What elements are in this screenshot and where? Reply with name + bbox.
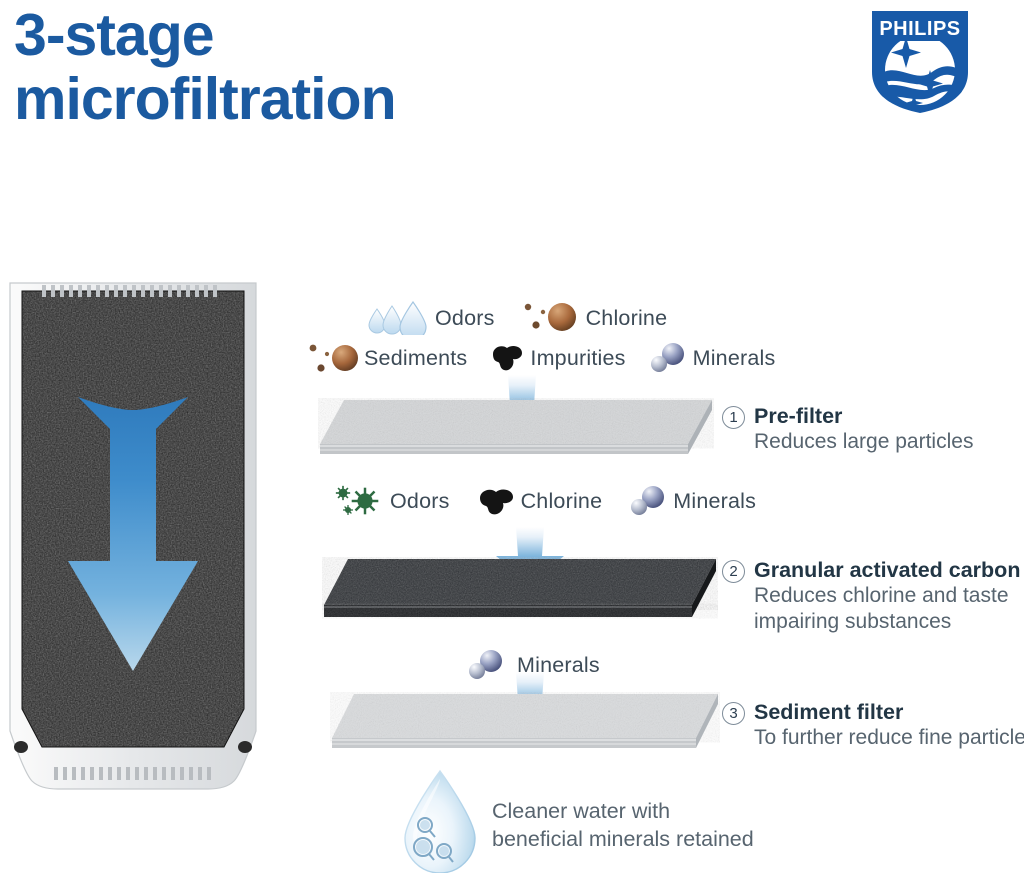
contaminant-row-1b: Sediments Impurities Mine	[307, 340, 775, 376]
title-line-2: microfiltration	[14, 68, 614, 132]
stage-title: Sediment filter	[754, 700, 1024, 725]
stage-subtitle-line-2: impairing substances	[754, 609, 1020, 635]
contaminant-label: Odors	[390, 489, 450, 514]
result-caption: Cleaner water with beneficial minerals r…	[492, 798, 754, 853]
water-drop-icon	[397, 769, 483, 873]
contaminant-label: Minerals	[673, 489, 756, 514]
result-caption-line-2: beneficial minerals retained	[492, 826, 754, 854]
title-line-1: 3-stage	[14, 4, 614, 68]
contaminant-chip-sediments: Sediments	[307, 340, 467, 376]
contaminant-chip-impurities: Impurities	[489, 343, 625, 373]
stage-subtitle: To further reduce fine particles	[754, 725, 1024, 751]
stage-number-badge: 3	[722, 702, 745, 725]
contaminant-label: Minerals	[693, 346, 776, 371]
blue-spheres-icon	[628, 484, 668, 518]
contaminant-row-1a: Odors Chlorine	[368, 300, 667, 336]
side-notch-right	[238, 741, 252, 753]
contaminant-chip-minerals-2: Minerals	[628, 484, 756, 518]
stage-subtitle: Reduces chlorine and taste	[754, 583, 1020, 609]
stage-description-3: 3 Sediment filter To further reduce fine…	[722, 700, 1024, 751]
contaminant-chip-minerals: Minerals	[648, 341, 776, 375]
contaminant-label: Chlorine	[521, 489, 603, 514]
contaminant-chip-odors-2: Odors	[333, 484, 450, 518]
water-droplets-icon	[368, 301, 430, 335]
filter-slab-stage-3	[330, 692, 720, 760]
contaminant-chip-chlorine-2: Chlorine	[476, 486, 603, 516]
contaminant-chip-odors: Odors	[368, 301, 495, 335]
page-title: 3-stage microfiltration	[14, 4, 614, 131]
contaminant-label: Chlorine	[586, 306, 668, 331]
black-blob-icon	[489, 343, 525, 373]
stage-subtitle: Reduces large particles	[754, 429, 973, 455]
brown-sphere-icon	[307, 340, 359, 376]
black-blob-icon	[476, 486, 516, 516]
contaminant-label: Odors	[435, 306, 495, 331]
contaminant-row-2: Odors Chlorine Minerals	[333, 484, 756, 518]
stage-description-1: 1 Pre-filter Reduces large particles	[722, 404, 973, 455]
contaminant-chip-chlorine: Chlorine	[523, 300, 668, 336]
brown-sphere-icon	[523, 300, 581, 336]
filter-slab-stage-1	[318, 398, 714, 466]
stage-title: Pre-filter	[754, 404, 973, 429]
result-caption-line-1: Cleaner water with	[492, 798, 754, 826]
green-virus-icon	[333, 484, 385, 518]
stage-title: Granular activated carbon	[754, 558, 1020, 583]
stage-number-badge: 2	[722, 560, 745, 583]
contaminant-label: Sediments	[364, 346, 467, 371]
contaminant-label: Impurities	[530, 346, 625, 371]
philips-wordmark: PHILIPS	[879, 18, 960, 40]
infographic-canvas: 3-stage microfiltration PH	[0, 0, 1024, 877]
philips-shield-logo: PHILIPS	[868, 8, 972, 116]
blue-spheres-icon	[648, 341, 688, 375]
water-filter-cartridge	[2, 279, 264, 815]
stage-description-2: 2 Granular activated carbon Reduces chlo…	[722, 558, 1020, 635]
side-notch-left	[14, 741, 28, 753]
stage-number-badge: 1	[722, 406, 745, 429]
filter-slab-stage-2	[322, 557, 718, 627]
